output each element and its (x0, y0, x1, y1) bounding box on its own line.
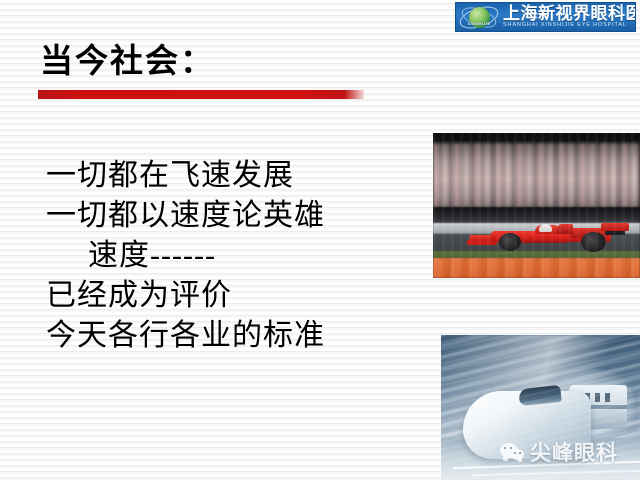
photo-high-speed-train (441, 335, 640, 480)
hospital-logo-text: 上海新视界眼科医院 SHANGHAI XINSHIJIE EYE HOSPITA… (503, 5, 636, 29)
body-line: 今天各行各业的标准 (46, 316, 426, 356)
hospital-name-en: SHANGHAI XINSHIJIE EYE HOSPITAL (503, 23, 636, 29)
body-line: 一切都以速度论英雄 (46, 196, 426, 236)
slide-title: 当今社会： (40, 44, 215, 80)
hospital-logo: XINSHIJIE 上海新视界眼科医院 SHANGHAI XINSHIJIE E… (455, 2, 636, 32)
race-car-shape (469, 221, 629, 251)
hospital-logo-emblem-text: XINSHIJIE (459, 21, 499, 26)
slide-canvas: XINSHIJIE 上海新视界眼科医院 SHANGHAI XINSHIJIE E… (0, 0, 640, 480)
title-underline-rule (38, 90, 364, 99)
body-line: 速度------ (46, 236, 426, 276)
body-line: 已经成为评价 (46, 276, 426, 316)
body-text-block: 一切都在飞速发展 一切都以速度论英雄 速度------ 已经成为评价 今天各行各… (46, 156, 426, 355)
photo-formula-one-car (433, 133, 640, 278)
body-line: 一切都在飞速发展 (46, 156, 426, 196)
hospital-logo-emblem-icon: XINSHIJIE (459, 5, 499, 29)
hospital-name-cn: 上海新视界眼科医院 (503, 5, 636, 22)
